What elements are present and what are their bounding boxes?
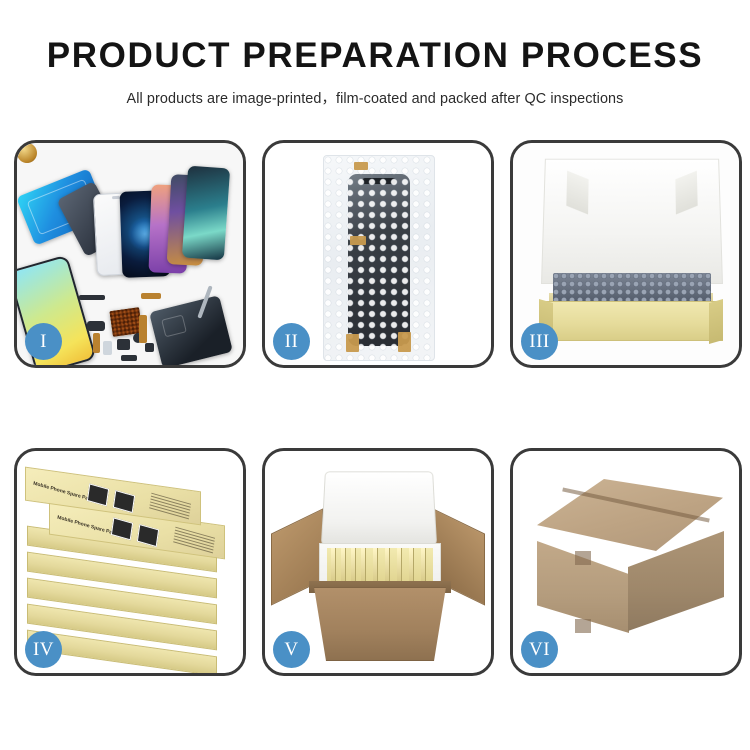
box-window	[87, 483, 109, 506]
tape-icon	[346, 334, 359, 352]
process-step-2: II	[262, 140, 494, 368]
header: PRODUCT PREPARATION PROCESS All products…	[0, 0, 750, 108]
tape-icon	[350, 236, 366, 245]
small-part-icon	[87, 321, 105, 331]
step-badge-3: III	[521, 323, 558, 360]
process-step-5: V	[262, 448, 494, 676]
styrofoam-lid	[321, 471, 437, 545]
carton-tab-icon	[575, 551, 591, 565]
step-badge-1: I	[25, 323, 62, 360]
green-phone-icon	[182, 166, 230, 261]
bubble-bag	[323, 155, 435, 361]
lid-flap-right	[675, 171, 697, 215]
yellow-box-front	[539, 301, 723, 341]
process-grid: I II	[14, 140, 740, 676]
step-badge-4: IV	[25, 631, 62, 668]
flex-cable-icon	[93, 333, 100, 353]
page-title: PRODUCT PREPARATION PROCESS	[0, 38, 750, 75]
box-window	[137, 524, 159, 547]
step-badge-6: VI	[521, 631, 558, 668]
small-part-icon	[121, 355, 137, 361]
small-part-icon	[117, 339, 130, 350]
flex-cable-icon	[141, 293, 161, 299]
step-badge-5: V	[273, 631, 310, 668]
white-box-lid	[541, 159, 723, 284]
phone-back-housing-icon	[149, 295, 233, 365]
carton-tab-icon	[575, 619, 591, 633]
box-spec-lines	[173, 527, 215, 556]
infographic-page: PRODUCT PREPARATION PROCESS All products…	[0, 0, 750, 750]
box-label: Mobile Phone Spare Parts	[33, 481, 95, 504]
gold-coil-icon	[17, 143, 37, 163]
process-step-4: Mobile Phone Spare Parts Mobile Phone Sp…	[14, 448, 246, 676]
process-step-3: III	[510, 140, 742, 368]
tape-icon	[398, 332, 411, 352]
small-part-icon	[103, 341, 112, 355]
process-step-1: I	[14, 140, 246, 368]
step-badge-2: II	[273, 323, 310, 360]
page-subtitle: All products are image-printed，film-coat…	[0, 87, 750, 108]
flex-cable-icon	[139, 315, 147, 343]
tape-icon	[354, 162, 368, 170]
box-spec-lines	[149, 493, 191, 522]
box-label: Mobile Phone Spare Parts	[57, 515, 119, 538]
process-step-6: VI	[510, 448, 742, 676]
box-window	[113, 490, 135, 513]
lid-flap-left	[566, 171, 588, 215]
box-window	[111, 517, 133, 540]
small-part-icon	[79, 295, 105, 300]
small-part-icon	[145, 343, 154, 352]
bubble-texture	[324, 156, 434, 360]
cardboard-carton	[305, 587, 455, 661]
